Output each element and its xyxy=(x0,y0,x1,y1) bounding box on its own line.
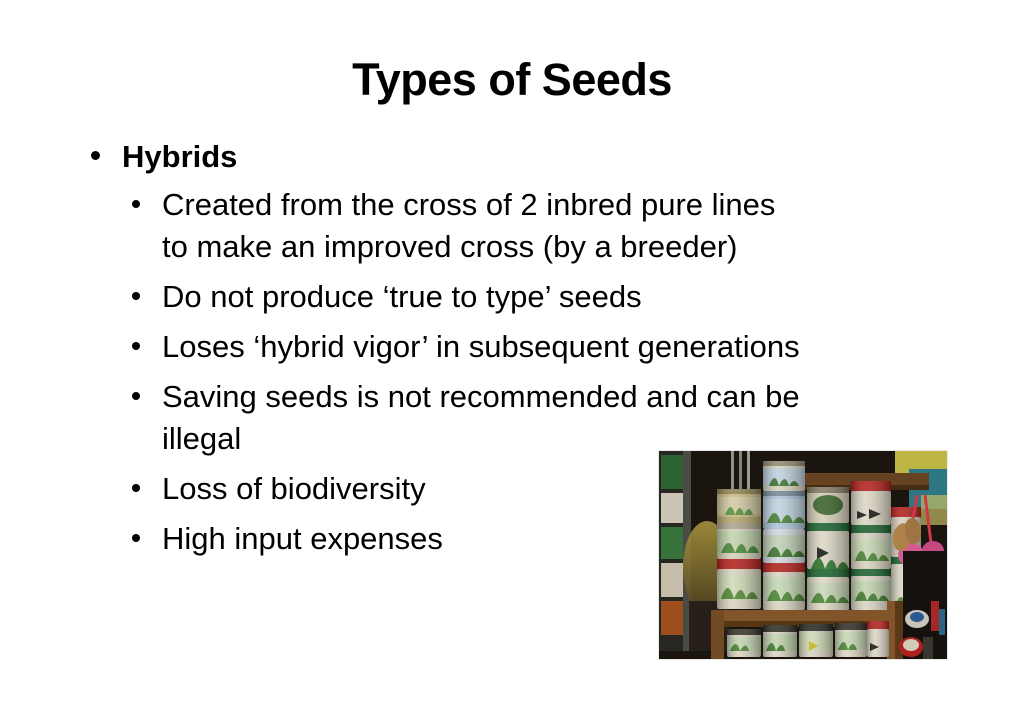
bullet-dot-icon xyxy=(132,292,140,300)
seed-cans-shelf-photo xyxy=(658,450,948,660)
list-item-hybrids: Hybrids xyxy=(86,136,806,178)
list-item-hybrid-vigor: Loses ‘hybrid vigor’ in subsequent gener… xyxy=(86,326,806,368)
page-title: Types of Seeds xyxy=(0,54,1024,106)
list-item-true-to-type: Do not produce ‘true to type’ seeds xyxy=(86,276,806,318)
bullet-label: Hybrids xyxy=(122,136,806,178)
bullet-dot-icon xyxy=(132,534,140,542)
bullet-label: Loses ‘hybrid vigor’ in subsequent gener… xyxy=(162,326,806,368)
bullet-dot-icon xyxy=(91,151,100,160)
bullet-label: Do not produce ‘true to type’ seeds xyxy=(162,276,806,318)
bullet-dot-icon xyxy=(132,484,140,492)
bullet-label: Saving seeds is not recommended and can … xyxy=(162,376,806,460)
list-item-created-from-cross: Created from the cross of 2 inbred pure … xyxy=(86,184,806,268)
bullet-label: Created from the cross of 2 inbred pure … xyxy=(162,184,806,268)
list-item-saving-seeds: Saving seeds is not recommended and can … xyxy=(86,376,806,460)
bullet-dot-icon xyxy=(132,342,140,350)
bullet-dot-icon xyxy=(132,200,140,208)
slide-canvas: Types of Seeds Hybrids Created from the … xyxy=(0,0,1024,724)
bullet-dot-icon xyxy=(132,392,140,400)
